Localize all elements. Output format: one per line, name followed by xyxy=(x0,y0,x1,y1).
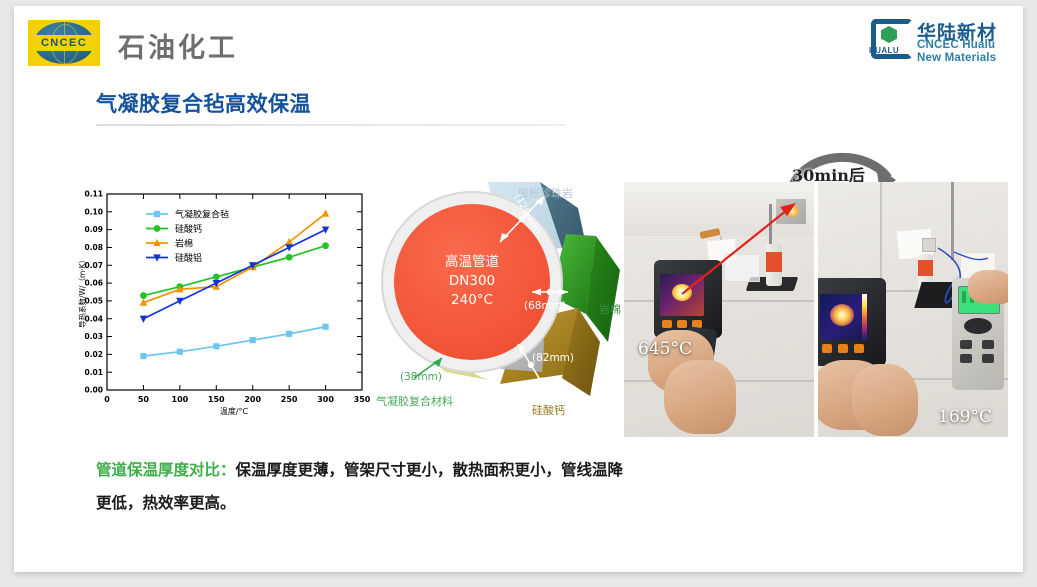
temperature-label-before: 645°C xyxy=(638,339,692,359)
layer-label-calsil: 硅酸钙 xyxy=(532,402,565,418)
svg-text:250: 250 xyxy=(281,395,298,404)
page-title: 气凝胶复合毡高效保温 xyxy=(96,88,311,118)
caption-highlight: 管道保温厚度对比： xyxy=(96,461,236,479)
svg-text:0.11: 0.11 xyxy=(84,190,103,199)
layer-label-perlite: 膨胀珍珠岩 xyxy=(518,185,573,201)
svg-text:0.07: 0.07 xyxy=(84,261,103,270)
camera-button[interactable] xyxy=(854,344,864,353)
svg-text:0.08: 0.08 xyxy=(84,243,103,252)
pipe-spec-text: 高温管道 DN300 240°C xyxy=(404,253,540,310)
cncec-logo: CNCEC xyxy=(28,20,100,66)
pipe-spec-line2: DN300 xyxy=(404,272,540,291)
camera-button[interactable] xyxy=(838,344,848,353)
svg-text:导热系数/W/（m·K）: 导热系数/W/（m·K） xyxy=(77,256,87,328)
hualu-brand-en-line2: New Materials xyxy=(917,52,996,64)
meter-button[interactable] xyxy=(982,354,994,363)
photo-after: 169°C xyxy=(818,182,1008,437)
svg-text:0.02: 0.02 xyxy=(84,350,103,359)
pointing-arrow-icon xyxy=(624,182,814,437)
layer-label-rockwool: 岩棉 xyxy=(599,301,621,317)
thermal-test-photos: 645°C xyxy=(624,182,1009,437)
pipe-insulation-diagram: 膨胀珍珠岩 岩棉 硅酸钙 气凝胶复合材料 (38mm) (128mm) (68m… xyxy=(372,174,630,426)
svg-text:0.06: 0.06 xyxy=(84,279,103,288)
hualu-brand-en-line1: CNCEC Hualu xyxy=(917,39,995,51)
pipe-spec-line3: 240°C xyxy=(404,291,540,310)
svg-text:50: 50 xyxy=(138,395,150,404)
svg-text:0.10: 0.10 xyxy=(84,207,103,216)
svg-text:0.03: 0.03 xyxy=(84,332,103,341)
svg-text:气凝胶复合毡: 气凝胶复合毡 xyxy=(175,208,229,220)
slide-caption: 管道保温厚度对比：保温厚度更薄，管架尺寸更小，散热面积更小，管线温降更低，热效率… xyxy=(96,454,636,520)
svg-text:硅酸铝: 硅酸铝 xyxy=(175,252,202,264)
chart-svg: 0.000.010.020.030.040.050.060.070.080.09… xyxy=(74,182,374,420)
hualu-logo: HUALU 华陆新材 CNCEC Hualu New Materials xyxy=(869,19,1005,65)
hand xyxy=(968,270,1008,304)
meter-dial[interactable] xyxy=(964,318,992,334)
layer-thickness-calsil: (82mm) xyxy=(532,352,574,364)
slide-canvas: CNCEC 石油化工 HUALU 华陆新材 CNCEC Hualu New Ma… xyxy=(14,6,1023,572)
svg-text:0.01: 0.01 xyxy=(84,368,103,377)
camera-button[interactable] xyxy=(822,344,832,353)
meter-button[interactable] xyxy=(982,340,994,349)
layer-label-aerogel: 气凝胶复合材料 xyxy=(376,393,453,409)
hualu-mark-text: HUALU xyxy=(869,46,899,55)
svg-text:100: 100 xyxy=(172,395,189,404)
hand xyxy=(852,364,918,436)
svg-text:0.00: 0.00 xyxy=(84,386,103,395)
pipe-spec-line1: 高温管道 xyxy=(404,253,540,272)
svg-text:温度/°C: 温度/°C xyxy=(220,406,249,416)
svg-text:350: 350 xyxy=(354,395,371,404)
svg-text:200: 200 xyxy=(244,395,261,404)
svg-text:0.05: 0.05 xyxy=(84,297,103,306)
svg-text:0.04: 0.04 xyxy=(84,314,103,323)
layer-thickness-aerogel: (38mm) xyxy=(400,371,442,383)
svg-text:0.09: 0.09 xyxy=(84,225,103,234)
title-underline xyxy=(96,124,566,126)
cncec-brand-text: 石油化工 xyxy=(118,26,238,65)
thermal-conductivity-chart: 0.000.010.020.030.040.050.060.070.080.09… xyxy=(74,182,374,420)
svg-text:150: 150 xyxy=(208,395,225,404)
thermal-color-bar xyxy=(862,294,867,340)
svg-text:岩棉: 岩棉 xyxy=(175,237,193,249)
thermal-hotspot-blob xyxy=(830,304,854,326)
hualu-mark-icon: HUALU xyxy=(869,19,911,53)
svg-text:0: 0 xyxy=(104,395,110,404)
photo-before: 645°C xyxy=(624,182,814,437)
svg-text:硅酸钙: 硅酸钙 xyxy=(175,223,202,235)
svg-text:300: 300 xyxy=(317,395,334,404)
meter-button[interactable] xyxy=(960,354,972,363)
slide-header: CNCEC 石油化工 HUALU 华陆新材 CNCEC Hualu New Ma… xyxy=(14,6,1023,80)
cncec-logo-letters: CNCEC xyxy=(28,35,100,51)
temperature-label-after: 169°C xyxy=(938,407,992,427)
meter-button[interactable] xyxy=(960,340,972,349)
